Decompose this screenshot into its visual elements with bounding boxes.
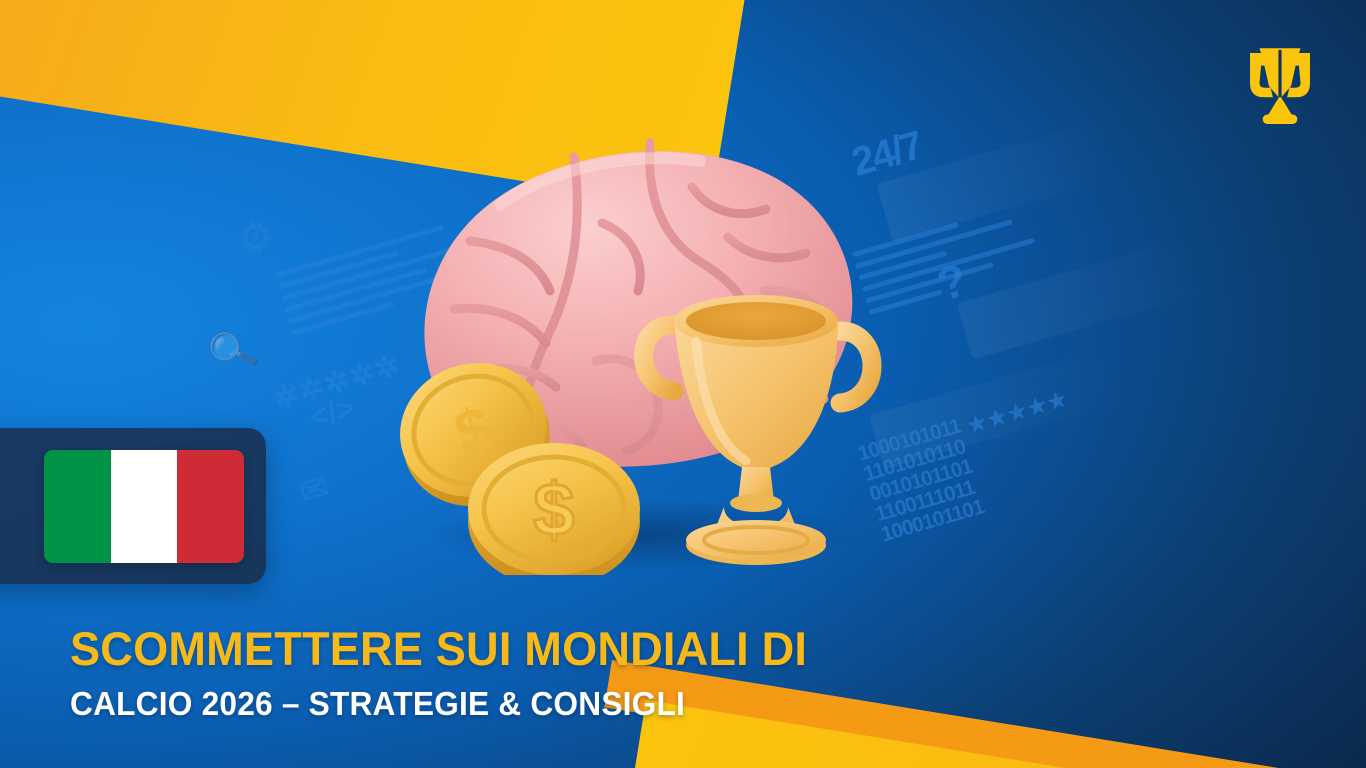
coin-front: $ [468, 443, 640, 575]
stars-decor: ★★★★★ [965, 386, 1072, 439]
page-subtitle: CALCIO 2026 – STRATEGIE & CONSIGLI [70, 685, 1030, 723]
title-block: SCOMMETTERE SUI MONDIALI DI CALCIO 2026 … [70, 622, 1070, 723]
gear-icon: ⚙ [232, 211, 279, 265]
hero-illustration: $ $ [350, 95, 930, 575]
page-title: SCOMMETTERE SUI MONDIALI DI [70, 622, 1030, 676]
flag-stripe-white [111, 450, 178, 563]
italy-flag-icon [44, 450, 244, 563]
search-icon: 🔍 [205, 324, 263, 379]
svg-text:$: $ [533, 468, 574, 551]
country-flag-badge[interactable] [0, 428, 266, 584]
banner-root: ⚙ 🔍 ✉ ✲✲✲✲✲ </> 24/7 ? ★★★★★ 10001010111… [0, 0, 1366, 768]
mail-icon: ✉ [295, 467, 333, 513]
flag-stripe-red [177, 450, 244, 563]
question-mark-icon: ? [931, 252, 973, 312]
sheen-decor-2 [957, 235, 1213, 360]
trophy-logo-icon[interactable] [1240, 42, 1320, 124]
flag-stripe-green [44, 450, 111, 563]
